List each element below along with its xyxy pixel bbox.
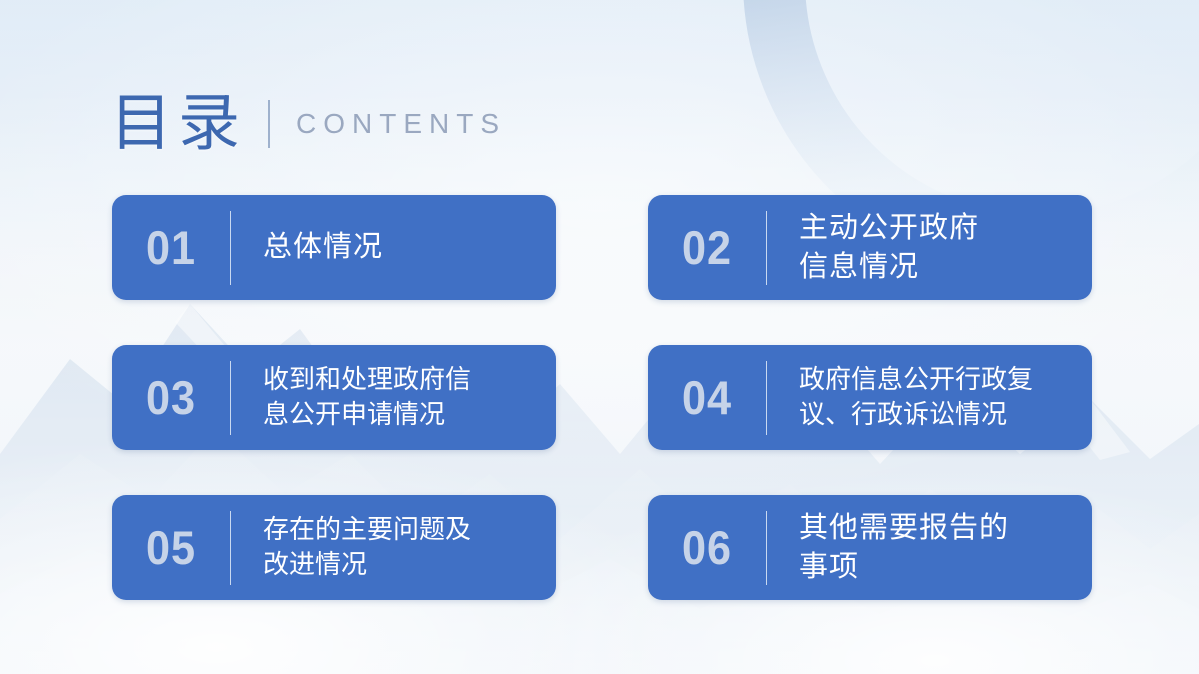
item-label-line: 息公开申请情况 <box>263 398 542 432</box>
contents-item-06[interactable]: 06 其他需要报告的 事项 <box>648 495 1092 600</box>
slide-contents-page: 目录 CONTENTS 01 总体情况 02 主动公开政府 信息情况 03 收到… <box>0 0 1199 674</box>
item-label-line: 存在的主要问题及 <box>263 513 542 547</box>
item-label-line: 其他需要报告的 <box>799 509 1078 547</box>
item-label-04: 政府信息公开行政复 议、行政诉讼情况 <box>767 363 1092 432</box>
item-label-line: 主动公开政府 <box>799 209 1078 247</box>
title-english: CONTENTS <box>296 108 506 140</box>
item-label-line: 改进情况 <box>263 548 542 582</box>
title-divider <box>268 100 270 148</box>
item-label-line: 政府信息公开行政复 <box>799 363 1078 397</box>
item-label-06: 其他需要报告的 事项 <box>767 509 1092 586</box>
item-number-04: 04 <box>653 374 762 421</box>
contents-item-05[interactable]: 05 存在的主要问题及 改进情况 <box>112 495 556 600</box>
item-number-05: 05 <box>117 524 226 571</box>
contents-item-01[interactable]: 01 总体情况 <box>112 195 556 300</box>
item-label-05: 存在的主要问题及 改进情况 <box>231 513 556 582</box>
contents-item-03[interactable]: 03 收到和处理政府信 息公开申请情况 <box>112 345 556 450</box>
item-label-line: 收到和处理政府信 <box>263 363 542 397</box>
item-label-02: 主动公开政府 信息情况 <box>767 209 1092 286</box>
contents-grid: 01 总体情况 02 主动公开政府 信息情况 03 收到和处理政府信 息公开申请… <box>112 195 1092 600</box>
item-number-06: 06 <box>653 524 762 571</box>
item-number-02: 02 <box>653 224 762 271</box>
item-number-03: 03 <box>117 374 226 421</box>
item-label-03: 收到和处理政府信 息公开申请情况 <box>231 363 556 432</box>
contents-item-02[interactable]: 02 主动公开政府 信息情况 <box>648 195 1092 300</box>
item-label-line: 信息情况 <box>799 248 1078 286</box>
item-label-line: 总体情况 <box>263 228 542 266</box>
item-label-line: 议、行政诉讼情况 <box>799 398 1078 432</box>
contents-item-04[interactable]: 04 政府信息公开行政复 议、行政诉讼情况 <box>648 345 1092 450</box>
item-label-line: 事项 <box>799 548 1078 586</box>
title-chinese: 目录 <box>110 93 246 155</box>
page-title: 目录 CONTENTS <box>110 86 506 162</box>
item-label-01: 总体情况 <box>231 228 556 266</box>
item-number-01: 01 <box>117 224 226 271</box>
